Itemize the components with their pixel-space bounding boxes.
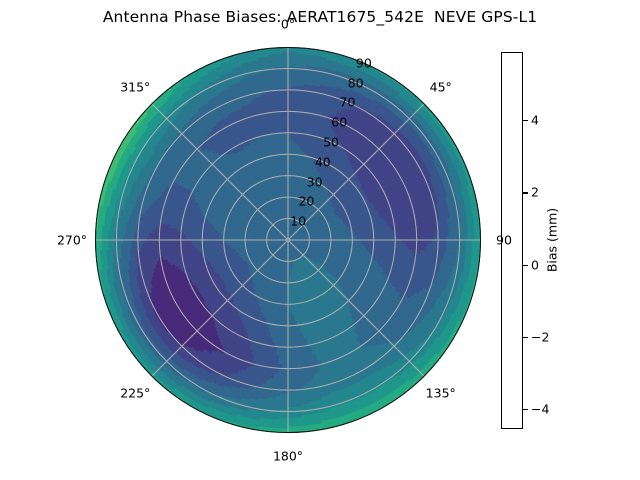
figure-canvas: Antenna Phase Biases: AERAT1675_542E NEV… bbox=[0, 0, 640, 480]
chart-title: Antenna Phase Biases: AERAT1675_542E NEV… bbox=[0, 8, 640, 26]
polar-contour-field bbox=[95, 47, 481, 433]
polar-axes: 0°45°90135°180°225°270°315° 102030405060… bbox=[95, 47, 481, 433]
